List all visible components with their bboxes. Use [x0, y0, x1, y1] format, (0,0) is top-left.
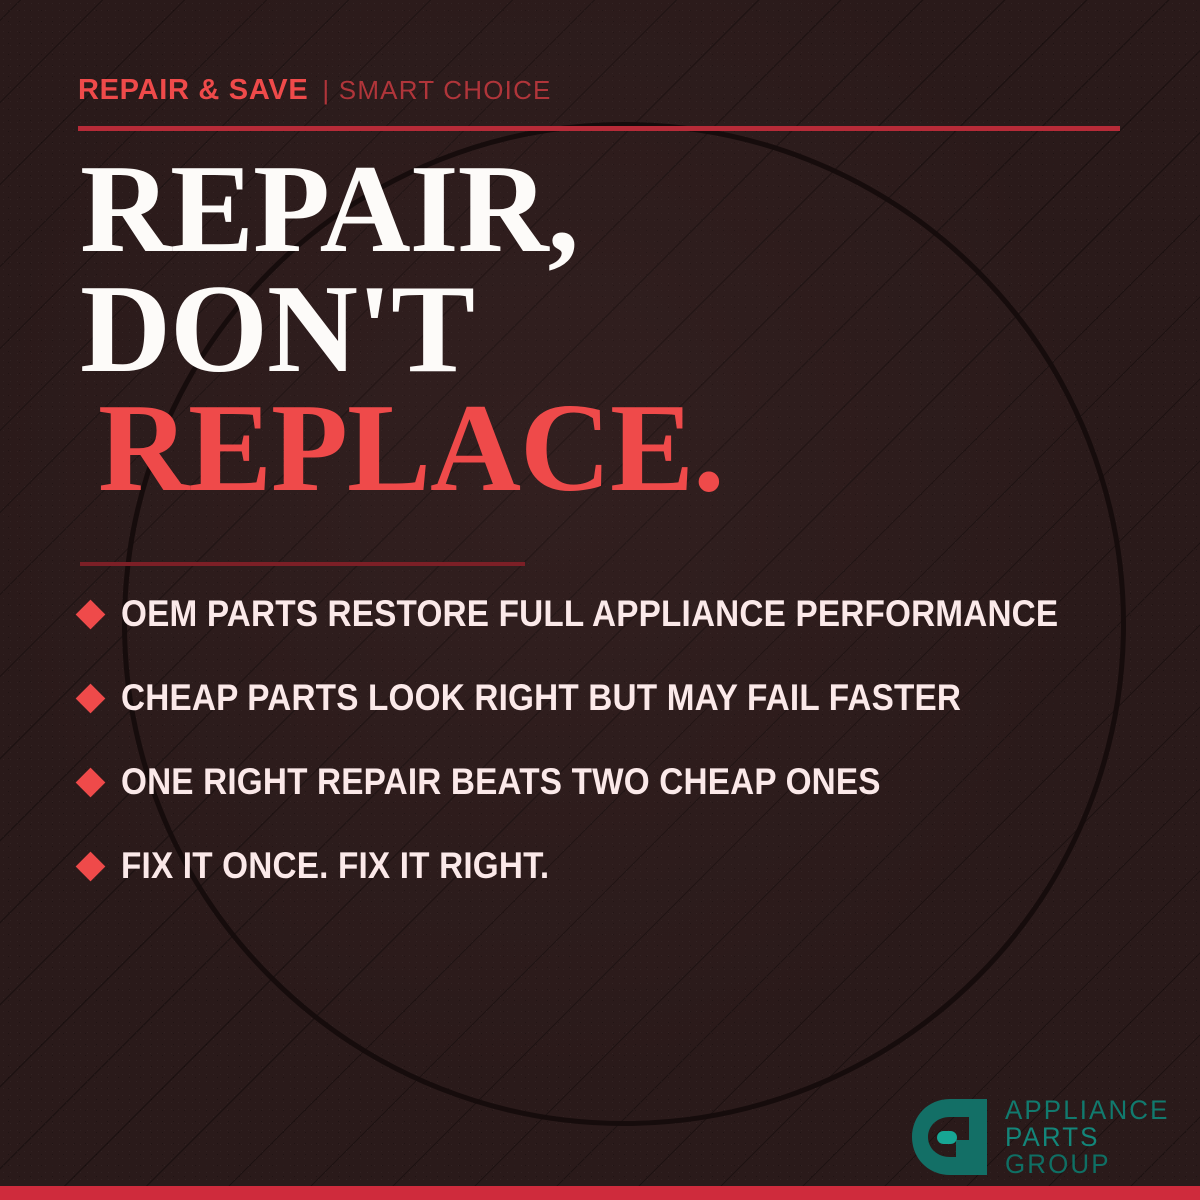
headline-block: REPAIR, DON'T REPLACE. [80, 150, 724, 509]
list-item-label: FIX IT ONCE. FIX IT RIGHT. [121, 845, 549, 887]
poster-canvas: REPAIR & SAVE | SMART CHOICE REPAIR, DON… [0, 0, 1200, 1200]
brand-logo-wordmark: APPLIANCE PARTS GROUP [1005, 1097, 1176, 1178]
benefits-list: OEM PARTS RESTORE FULL APPLIANCE PERFORM… [80, 586, 1160, 922]
list-item: FIX IT ONCE. FIX IT RIGHT. [80, 838, 1160, 894]
eyebrow-kicker: REPAIR & SAVE | SMART CHOICE [78, 74, 552, 107]
logo-word-group: GROUP [1005, 1151, 1170, 1178]
headline-line-2: DON'T [80, 270, 724, 390]
eyebrow-main-label: REPAIR & SAVE [78, 74, 308, 107]
header-divider-rule [78, 126, 1120, 131]
diamond-bullet-icon [76, 683, 106, 713]
headline-underline-rule [80, 562, 525, 566]
logo-word-parts: PARTS [1005, 1124, 1170, 1151]
bottom-accent-bar [0, 1186, 1200, 1200]
list-item-label: CHEAP PARTS LOOK RIGHT BUT MAY FAIL FAST… [121, 677, 961, 719]
g-monogram-icon [909, 1096, 991, 1178]
diamond-bullet-icon [76, 767, 106, 797]
headline-line-1: REPAIR, [80, 150, 724, 270]
logo-word-appliance: APPLIANCE [1005, 1097, 1170, 1124]
diamond-bullet-icon [76, 851, 106, 881]
list-item: CHEAP PARTS LOOK RIGHT BUT MAY FAIL FAST… [80, 670, 1160, 726]
diamond-bullet-icon [76, 599, 106, 629]
brand-logo: APPLIANCE PARTS GROUP [909, 1096, 1176, 1178]
list-item-label: ONE RIGHT REPAIR BEATS TWO CHEAP ONES [121, 761, 881, 803]
headline-line-3: REPLACE. [80, 389, 724, 509]
list-item: ONE RIGHT REPAIR BEATS TWO CHEAP ONES [80, 754, 1160, 810]
list-item: OEM PARTS RESTORE FULL APPLIANCE PERFORM… [80, 586, 1160, 642]
list-item-label: OEM PARTS RESTORE FULL APPLIANCE PERFORM… [121, 593, 1058, 635]
eyebrow-sub-label: | SMART CHOICE [322, 75, 551, 106]
